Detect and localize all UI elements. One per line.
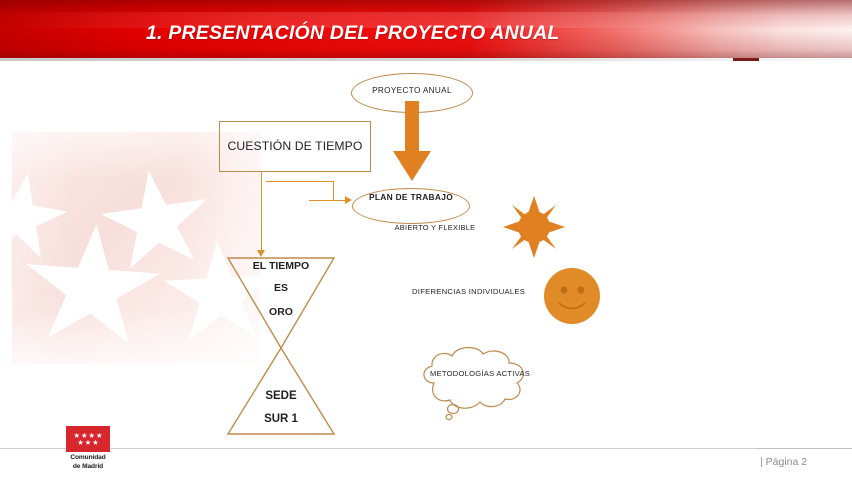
star-icon: [96, 433, 102, 439]
star-icon: [81, 433, 87, 439]
connector-elbow-segment-horizontal-bottom: [309, 200, 347, 201]
star-icon: [78, 440, 84, 446]
comunidad-de-madrid-logo: Comunidad de Madrid: [60, 426, 116, 474]
hourglass-line-sur-1: SUR 1: [226, 413, 336, 425]
footer-divider: [0, 448, 852, 449]
hourglass-line-sede: SEDE: [226, 390, 336, 402]
hourglass-line-oro: ORO: [226, 306, 336, 318]
logo-star-row-top: [74, 433, 103, 439]
node-cuestion-de-tiempo-label: CUESTIÓN DE TIEMPO: [219, 139, 371, 153]
star-icon: [89, 433, 95, 439]
caption-abierto-y-flexible: ABIERTO Y FLEXIBLE: [380, 223, 490, 232]
connector-elbow-segment-vertical: [333, 181, 334, 200]
connector-arrowhead-right: [345, 196, 352, 204]
logo-wordmark-line2: de Madrid: [60, 463, 116, 472]
star-icon: [74, 433, 80, 439]
connector-cuestion-to-hourglass: [261, 172, 262, 254]
slide-canvas: 1. PRESENTACIÓN DEL PROYECTO ANUAL PROYE…: [0, 0, 852, 480]
thought-cloud-shape: [412, 343, 542, 425]
hourglass-line-el-tiempo: EL TIEMPO: [226, 260, 336, 272]
footer-divider-right: [758, 448, 852, 449]
star-icon: [85, 440, 91, 446]
logo-star-row-bottom: [78, 440, 99, 446]
logo-wordmark-line1: Comunidad: [60, 454, 116, 463]
page-number: | Página 2: [760, 456, 807, 468]
header-underline: [0, 58, 852, 61]
caption-diferencias-individuales: DIFERENCIAS INDIVIDUALES: [412, 287, 534, 296]
node-proyecto-anual-label: PROYECTO ANUAL: [352, 86, 472, 95]
page-title: 1. PRESENTACIÓN DEL PROYECTO ANUAL: [146, 22, 559, 45]
header-accent-dash: [733, 58, 759, 61]
star-icon: [93, 440, 99, 446]
node-metodologias-activas-label: METODOLOGÍAS ACTIVAS: [424, 369, 536, 378]
logo-wordmark: Comunidad de Madrid: [60, 454, 116, 471]
down-arrow-icon: [392, 101, 432, 183]
logo-stars-group: [66, 430, 110, 448]
hourglass-line-es: ES: [226, 282, 336, 294]
connector-elbow-segment-horizontal-top: [266, 181, 334, 182]
node-plan-de-trabajo-label: PLAN DE TRABAJO: [352, 192, 470, 202]
smiley-face-icon: [543, 267, 601, 325]
sun-icon: [503, 196, 565, 258]
